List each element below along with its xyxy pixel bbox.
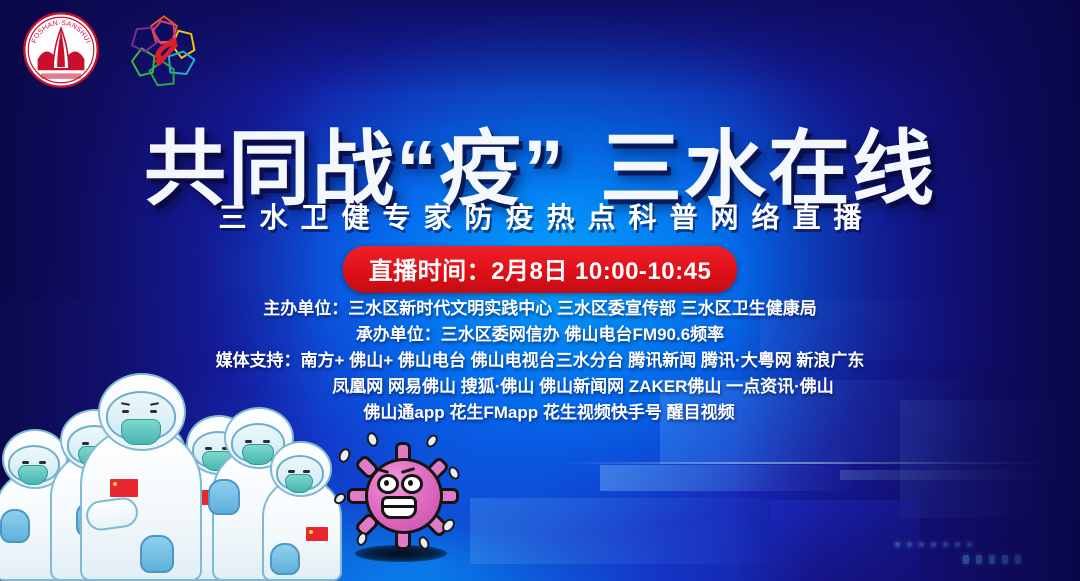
- worker-figure: [262, 459, 340, 581]
- credit-line-media-1: 媒体支持：南方+ 佛山+ 佛山电台 佛山电视台三水分台 腾讯新闻 腾讯·大粤网 …: [0, 348, 1080, 374]
- chinese-flag-patch: [306, 527, 328, 541]
- poster-subtitle: 三水卫健专家防疫热点科普网络直播: [0, 196, 1080, 236]
- party-emblem-flower-logo: [124, 10, 204, 90]
- angry-coronavirus-character: [345, 440, 455, 545]
- broadcast-time-badge-wrap: 直播时间：2月8日 10:00-10:45: [0, 246, 1080, 293]
- credit-line-organizer: 主办单位：三水区新时代文明实践中心 三水区委宣传部 三水区卫生健康局: [0, 296, 1080, 322]
- chinese-flag-patch: [110, 479, 138, 497]
- logo-group: FOSHAN·SANSHUI: [22, 10, 204, 90]
- live-broadcast-poster: FOSHAN·SANSHUI: [0, 0, 1080, 581]
- worker-figure-main: [80, 399, 200, 581]
- foshan-sanshui-seal-logo: FOSHAN·SANSHUI: [22, 11, 100, 89]
- medical-workers-illustration: [0, 381, 334, 581]
- broadcast-time-badge: 直播时间：2月8日 10:00-10:45: [343, 246, 738, 293]
- credit-line-coorganizer: 承办单位：三水区委网信办 佛山电台FM90.6频率: [0, 322, 1080, 348]
